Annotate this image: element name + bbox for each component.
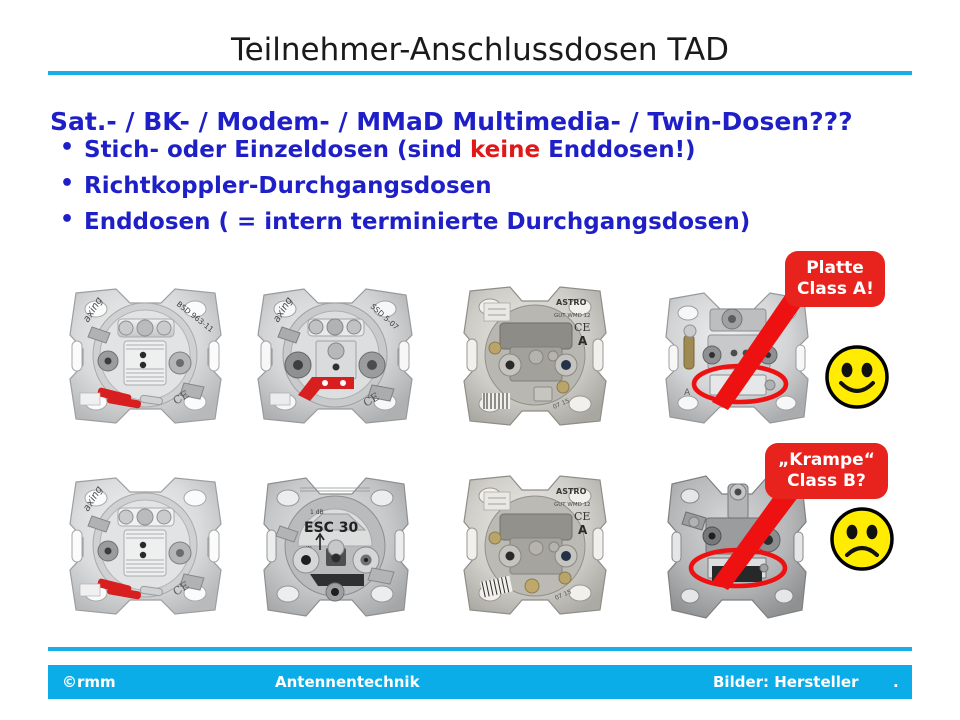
bullet-text-post: Enddosen!) xyxy=(540,137,696,163)
callout-platte-class-a[interactable]: Platte Class A! xyxy=(785,251,885,307)
smiley-happy xyxy=(823,343,891,416)
socket-axing-bsd-963-11: axing BSD 963-11 CE xyxy=(58,283,233,428)
socket-astro-gut-wmd-12-bottom: ASTRO GUT WMD 12 CE A 07 15 xyxy=(448,470,623,620)
svg-text:A: A xyxy=(578,523,588,537)
bullet-text-pre: Richtkoppler-Durchgangsdosen xyxy=(84,173,492,199)
svg-text:GUT WMD 12: GUT WMD 12 xyxy=(554,502,591,508)
svg-text:1 dB: 1 dB xyxy=(310,509,324,516)
bullet-list: Stich- oder Einzeldosen (sind keine Endd… xyxy=(50,139,910,234)
svg-text:A: A xyxy=(578,334,588,348)
footer-divider xyxy=(48,647,912,651)
callout-line-2: Class B? xyxy=(777,471,876,492)
page-title: Teilnehmer-Anschlussdosen TAD xyxy=(0,32,960,68)
callout-line-1: Platte xyxy=(797,258,873,279)
bullet-text-highlight: keine xyxy=(470,137,540,163)
footer-trailing: . xyxy=(893,673,899,691)
list-item: Stich- oder Einzeldosen (sind keine Endd… xyxy=(50,139,910,162)
footer-copyright: ©rmm xyxy=(62,673,116,691)
bullet-text-pre: Stich- oder Einzeldosen (sind xyxy=(84,137,470,163)
callout-krampe-class-b[interactable]: „Krampe“ Class B? xyxy=(765,443,888,499)
svg-text:CE: CE xyxy=(574,510,590,523)
list-item: Enddosen ( = intern terminierte Durchgan… xyxy=(50,211,910,234)
socket-axing-ssd-5-07: axing SSD 5-07 CE xyxy=(248,283,423,428)
svg-text:ASTRO: ASTRO xyxy=(556,298,587,307)
svg-text:CE: CE xyxy=(574,321,590,334)
footer-bar: ©rmm Antennentechnik Bilder: Hersteller … xyxy=(48,665,912,699)
socket-esc-30: 1 dB ESC 30 IN xyxy=(248,470,423,620)
lead-line: Sat.- / BK- / Modem- / MMaD Multimedia- … xyxy=(50,108,910,135)
svg-text:ESC 30: ESC 30 xyxy=(304,520,359,536)
callout-line-1: „Krampe“ xyxy=(777,450,876,471)
slide-root: Teilnehmer-Anschlussdosen TAD Sat.- / BK… xyxy=(0,0,960,720)
socket-axing-bottom-left: axing CE xyxy=(58,470,233,620)
callout-line-2: Class A! xyxy=(797,279,873,300)
svg-text:GUT WMD 12: GUT WMD 12 xyxy=(554,313,591,319)
list-item: Richtkoppler-Durchgangsdosen xyxy=(50,175,910,198)
footer-credit: Bilder: Hersteller xyxy=(713,673,859,691)
bullet-text-pre: Enddosen ( = intern terminierte Durchgan… xyxy=(84,209,750,235)
footer-center: Antennentechnik xyxy=(275,673,420,691)
smiley-sad xyxy=(828,505,896,578)
svg-text:ASTRO: ASTRO xyxy=(556,487,587,496)
body-text-block: Sat.- / BK- / Modem- / MMaD Multimedia- … xyxy=(50,108,910,247)
title-divider xyxy=(48,71,912,75)
socket-astro-gut-wmd-12-top: ASTRO GUT WMD 12 CE A 07 15 xyxy=(448,283,623,428)
